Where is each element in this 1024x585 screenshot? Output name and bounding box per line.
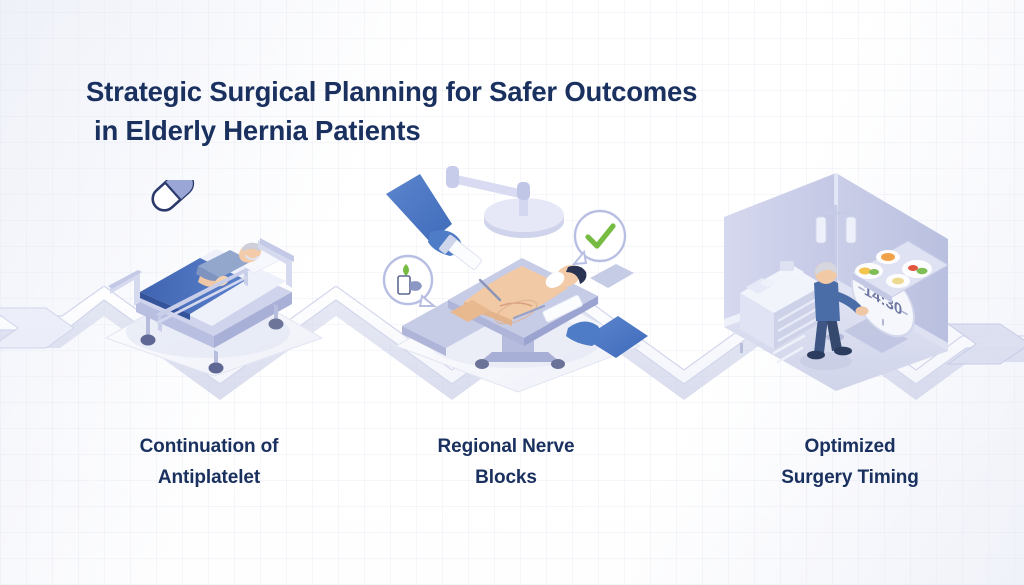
page-title-line-1: Strategic Surgical Planning for Safer Ou… [86, 76, 697, 107]
patient-gown-shadow [196, 266, 220, 286]
cabinet-leg-2 [820, 317, 823, 327]
lamp-arm-joint-right [517, 182, 530, 200]
patient-shadow [800, 352, 852, 370]
room-wall-left [724, 173, 836, 327]
or-table-head-section [590, 264, 634, 288]
instrument-tip [514, 306, 544, 318]
baseboard-right [836, 279, 948, 351]
step-caption-optimized-surgery-timing: Optimized Surgery Timing [700, 432, 1000, 494]
bed-shadow [126, 306, 290, 358]
room-wall-right [836, 173, 948, 351]
bed-platform [106, 276, 322, 376]
caption-1-line-2: Antiplatelet [48, 463, 370, 494]
patient-leg-front [826, 317, 842, 351]
or-platform [396, 278, 640, 392]
surgical-mask [543, 269, 567, 291]
or-table-leg-edge [402, 326, 446, 356]
nasal-cannula [246, 256, 258, 259]
cabinet-item-monitor [780, 261, 794, 271]
syringe-bubble-ring [384, 256, 432, 304]
wall-clock-icon: 14:30 [852, 252, 914, 349]
patient-shoe-front [834, 347, 852, 356]
syringe-hand [410, 281, 422, 291]
cabinet-leg-1 [740, 343, 743, 353]
scene-continuation-of-antiplatelet [96, 180, 336, 380]
gloved-hand-instrument [514, 294, 648, 358]
caption-3-line-1: Optimized [700, 432, 1000, 463]
bed-leg-3 [274, 304, 278, 322]
caster-1 [141, 335, 156, 346]
rail-lower-bar [156, 276, 248, 324]
mattress [140, 249, 286, 326]
cabinet-front [740, 293, 774, 349]
iv-bag-left [816, 217, 826, 243]
ribbon-top-face [0, 286, 1024, 384]
bed-headboard [258, 240, 292, 288]
check-mark-glyph [588, 226, 613, 246]
cabinet-item-bowl [761, 279, 775, 287]
scene-regional-nerve-blocks [372, 160, 662, 395]
syringe-plunger [438, 234, 457, 255]
patient-hand-walking [856, 306, 869, 315]
ribbon-right-chevron [948, 324, 1024, 364]
food-2b [869, 269, 879, 275]
caption-2-line-1: Regional Nerve [356, 432, 656, 463]
patient-head-walking [815, 262, 837, 284]
clock-time-label: 14:30 [864, 281, 902, 319]
bed-base-side-right [214, 292, 292, 348]
food-3b [917, 268, 928, 274]
patient-hand [214, 274, 231, 288]
iv-base [826, 333, 844, 341]
iv-stand [816, 205, 856, 341]
food-2a [859, 268, 871, 275]
surgeon-sleeve-right [584, 316, 648, 358]
food-3a [908, 265, 918, 271]
check-bubble-ring [575, 211, 625, 261]
patient-shirt [814, 280, 840, 321]
patient-legs [450, 300, 490, 322]
lamp-stem [519, 184, 528, 216]
incision-line [500, 303, 532, 306]
surgical-lamp-head [484, 198, 564, 232]
bed-leg-1 [146, 314, 150, 338]
check-mark-bubble-icon [574, 211, 625, 264]
patient-arm [198, 276, 224, 287]
food-1 [881, 253, 895, 261]
or-caster-1 [475, 359, 489, 369]
pillow [236, 248, 284, 273]
pill-capsule-icon [148, 180, 198, 215]
patient-gown [198, 250, 252, 278]
plate-1 [876, 250, 900, 264]
patient-torso [464, 266, 568, 320]
patient-hair-or [566, 266, 586, 284]
walking-patient [800, 262, 869, 370]
glove-right [566, 321, 601, 346]
bed-base-side-left [136, 300, 214, 348]
or-table-leg-section [402, 296, 500, 348]
or-table-main-edge [448, 300, 524, 346]
or-caster-2 [551, 359, 565, 369]
step-caption-continuation-of-antiplatelet: Continuation of Antiplatelet [48, 432, 370, 494]
scene-optimized-surgery-timing: 14:30 [712, 165, 962, 395]
caster-3 [269, 319, 284, 330]
patient-leg-back [814, 317, 828, 353]
blanket [140, 258, 246, 314]
caster-2 [209, 363, 224, 374]
page-title-line-2: in Elderly Hernia Patients [86, 111, 826, 150]
bed-footboard-top [108, 270, 142, 289]
syringe-body [398, 276, 410, 294]
patient-head-or [552, 261, 585, 291]
surgical-lamp-rim [484, 215, 564, 238]
or-table-foot [480, 352, 560, 362]
supply-cabinet [740, 261, 824, 353]
baseboard-left [724, 279, 836, 327]
plate-3 [902, 260, 932, 278]
surgeon-sleeve-left [386, 174, 452, 242]
rail-post-a [158, 316, 162, 332]
rail-post-b [244, 270, 248, 286]
food-4 [892, 278, 904, 285]
gloved-hand-syringe [386, 174, 500, 300]
caption-1-line-1: Continuation of [48, 432, 370, 463]
or-table-column [502, 328, 534, 356]
syringe-needle [480, 280, 500, 300]
cabinet-top [740, 265, 824, 313]
iv-bag-right [846, 217, 856, 243]
patient-shoe-back [807, 351, 825, 360]
bowl-4 [886, 274, 910, 288]
patient-torso-shadow [464, 302, 512, 326]
blanket-edge [140, 292, 190, 320]
patient-hair [242, 243, 261, 252]
ribbon-left-chevron [0, 308, 74, 348]
bed-side-rail-bar [156, 268, 250, 317]
ribbon-underside [0, 298, 1024, 400]
lamp-arm-joint-left [446, 166, 459, 188]
clock-ticks [859, 263, 907, 338]
patient-head [236, 240, 265, 267]
step-caption-regional-nerve-blocks: Regional Nerve Blocks [356, 432, 656, 494]
surgical-field [492, 295, 540, 328]
or-table-shadow [428, 316, 600, 368]
cabinet-side [774, 285, 824, 349]
floor-mat [844, 317, 908, 353]
bed-leg-2 [214, 350, 218, 366]
syringe-barrel [446, 238, 482, 270]
tray-surface [852, 241, 948, 297]
bed-headboard-top [260, 238, 294, 262]
syringe-droplet [403, 264, 409, 276]
lamp-arm-horizontal [452, 174, 524, 199]
cabinet-item-box [746, 278, 774, 294]
motion-lines [774, 325, 808, 362]
cabinet-item-tray [778, 265, 804, 280]
tray-edge [852, 273, 892, 303]
glove-left [428, 230, 462, 256]
patient-arm-walking [832, 291, 862, 313]
cabinet-drawer-lines [778, 297, 820, 341]
check-bubble-tail [574, 252, 586, 264]
syringe-bubble-tail [420, 296, 434, 306]
room-floor [724, 287, 948, 391]
or-table-main-edge2 [524, 296, 598, 346]
caption-3-line-2: Surgery Timing [700, 463, 1000, 494]
clock-face [852, 252, 914, 349]
plate-2 [855, 263, 883, 279]
iv-pole [834, 205, 837, 335]
or-table-main [448, 258, 598, 338]
instrument-handle [542, 294, 583, 322]
wall-corner [834, 173, 838, 287]
step-connector-ribbon [0, 286, 1024, 416]
caption-2-line-2: Blocks [356, 463, 656, 494]
bed-footboard [110, 272, 140, 306]
syringe-bubble-icon [384, 256, 434, 306]
bed-base-top [136, 256, 292, 336]
infographic-canvas: 14:30 [0, 0, 1024, 585]
page-title: Strategic Surgical Planning for Safer Ou… [86, 72, 826, 150]
patient-hair-walking [815, 262, 837, 275]
meal-tray [852, 241, 948, 303]
